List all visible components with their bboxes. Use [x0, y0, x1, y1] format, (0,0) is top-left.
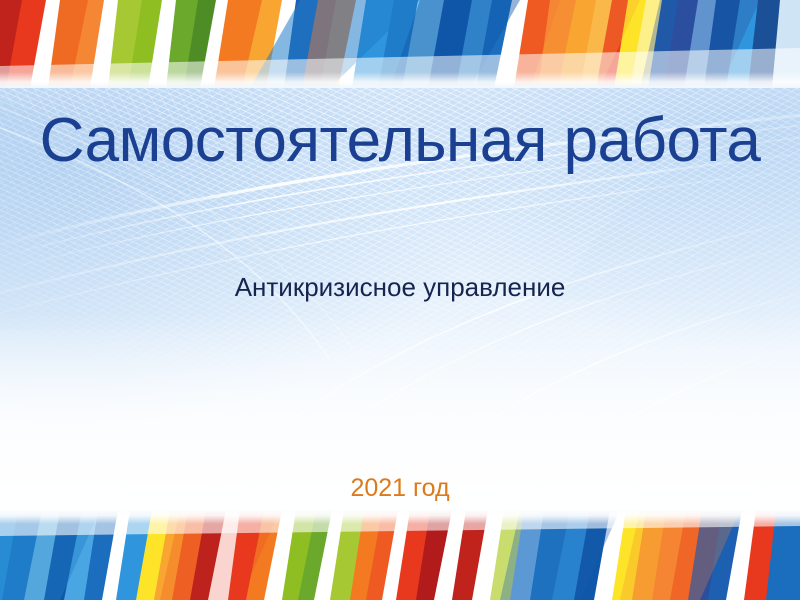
top-decorative-band	[0, 0, 800, 88]
slide-subtitle: Антикризисное управление	[0, 272, 800, 303]
bottom-decorative-band	[0, 510, 800, 600]
slide-year: 2021 год	[0, 474, 800, 503]
top-band-shards	[0, 0, 800, 88]
presentation-slide: Самостоятельная работа Антикризисное упр…	[0, 0, 800, 600]
bottom-band-shards	[0, 510, 800, 600]
slide-title: Самостоятельная работа	[0, 108, 800, 174]
